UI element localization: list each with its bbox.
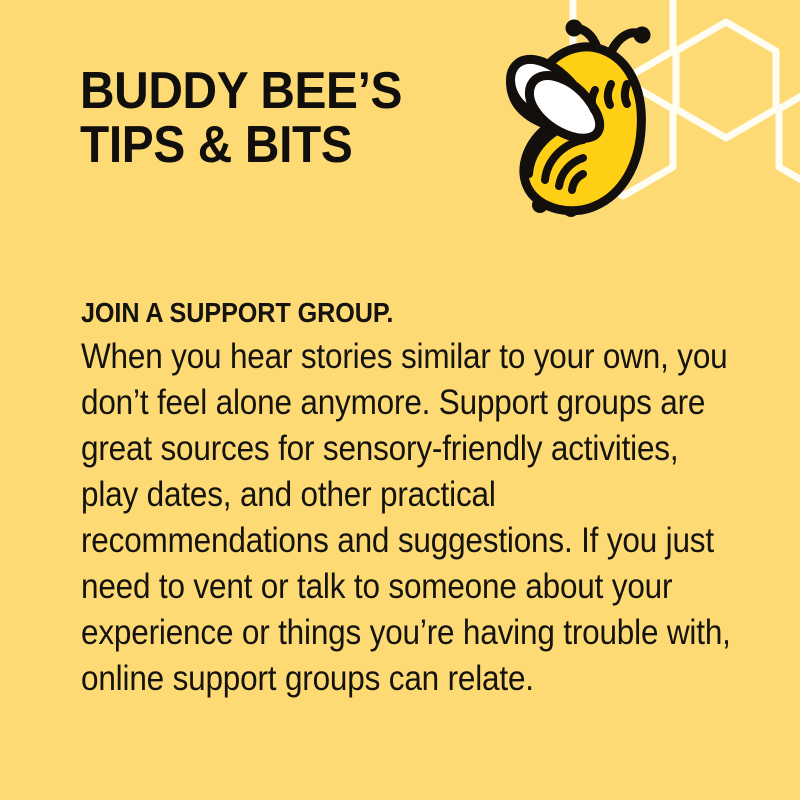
tips-card: BUDDY BEE’S TIPS & BITS JOIN A SUPPORT G… xyxy=(0,0,800,800)
tip-paragraph: When you hear stories similar to your ow… xyxy=(81,334,738,702)
bee-icon xyxy=(487,14,677,219)
tip-heading: JOIN A SUPPORT GROUP. xyxy=(81,296,711,330)
tip-content: JOIN A SUPPORT GROUP. When you hear stor… xyxy=(81,296,781,702)
page-title: BUDDY BEE’S TIPS & BITS xyxy=(80,64,466,172)
hexagon-icon xyxy=(676,22,776,138)
hexagon-icon xyxy=(779,80,800,196)
